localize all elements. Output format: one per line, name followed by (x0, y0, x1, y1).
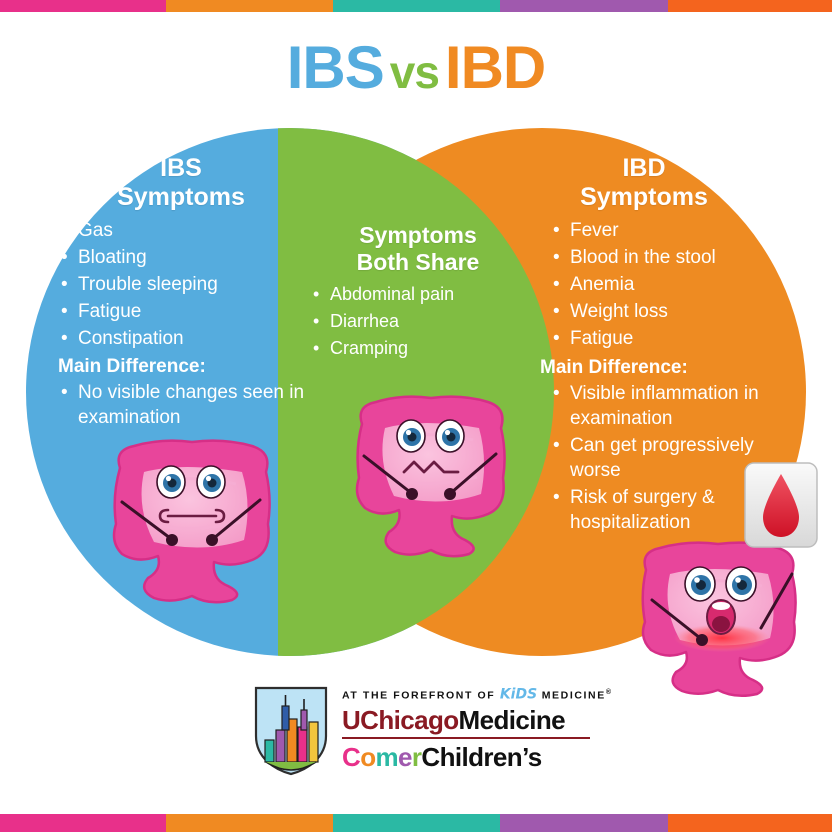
list-item: Fatigue (540, 326, 792, 351)
color-bar-segment-2 (166, 814, 333, 832)
list-item: Gas (58, 218, 308, 243)
list-item: Weight loss (540, 299, 792, 324)
shared-heading-line2: Both Share (310, 249, 526, 276)
logo-tagline: AT THE FOREFRONT OF KiDS MEDICINE® (342, 686, 594, 703)
ibd-main-difference-label: Main Difference: (540, 357, 792, 379)
logo-brand-medicine: Medicine (459, 705, 565, 735)
list-item: Diarrhea (310, 309, 526, 334)
comer-letter-o: o (360, 742, 375, 772)
logo-sub-brand: ComerChildren’s (342, 742, 594, 772)
ibd-heading: IBD Symptoms (544, 154, 744, 212)
list-item: Anemia (540, 272, 792, 297)
bottom-color-bar (0, 814, 832, 832)
ibs-heading-line2: Symptoms (76, 183, 286, 212)
color-bar-segment-3 (333, 814, 500, 832)
comer-letter-e: e (398, 742, 412, 772)
shield-logo-icon (252, 684, 330, 776)
tagline-post: MEDICINE (542, 690, 606, 702)
list-item: Trouble sleeping (58, 272, 308, 297)
logo-brand-uchicago: UChicago (342, 705, 459, 735)
infographic-page: IBSvsIBD IBS Symptoms Gas Bloating Troub… (0, 0, 832, 832)
ibd-heading-line2: Symptoms (544, 183, 744, 212)
ibs-main-difference-label: Main Difference: (58, 356, 308, 378)
list-item: Abdominal pain (310, 282, 526, 307)
blood-drop-card (744, 462, 818, 548)
comer-letter-c: C (342, 742, 360, 772)
color-bar-segment-1 (0, 814, 166, 832)
comer-childrens: Children’s (421, 742, 541, 772)
tagline-kids: KiDS (500, 687, 537, 703)
ibs-intestine-character (92, 428, 292, 608)
logo-brand: UChicagoMedicine (342, 705, 594, 735)
shared-symptom-list: Abdominal pain Diarrhea Cramping (310, 282, 526, 361)
list-item: Bloating (58, 245, 308, 270)
registered-mark: ® (606, 689, 613, 696)
uchicago-medicine-logo: AT THE FOREFRONT OF KiDS MEDICINE® UChic… (252, 682, 592, 782)
list-item: No visible changes seen in examination (58, 380, 308, 430)
shared-intestine-character (336, 386, 526, 561)
comer-letter-m: m (375, 742, 398, 772)
shared-heading: Symptoms Both Share (310, 222, 526, 276)
list-item: Blood in the stool (540, 245, 792, 270)
color-bar-segment-4 (500, 814, 668, 832)
ibs-column: IBS Symptoms Gas Bloating Trouble sleepi… (58, 154, 308, 432)
logo-text-block: AT THE FOREFRONT OF KiDS MEDICINE® UChic… (342, 682, 594, 772)
list-item: Cramping (310, 336, 526, 361)
ibd-symptom-list: Fever Blood in the stool Anemia Weight l… (540, 218, 792, 351)
ibs-heading: IBS Symptoms (76, 154, 286, 212)
list-item: Visible inflammation in examination (540, 381, 792, 431)
ibs-difference-list: No visible changes seen in examination (58, 380, 308, 430)
logo-divider (342, 737, 590, 739)
tagline-pre: AT THE FOREFRONT OF (342, 690, 495, 702)
list-item: Constipation (58, 326, 308, 351)
list-item: Fever (540, 218, 792, 243)
ibd-intestine-character (622, 534, 822, 699)
ibs-heading-line1: IBS (76, 154, 286, 183)
ibd-heading-line1: IBD (544, 154, 744, 183)
list-item: Fatigue (58, 299, 308, 324)
color-bar-segment-5 (668, 814, 832, 832)
shared-column: Symptoms Both Share Abdominal pain Diarr… (310, 222, 526, 363)
ibs-symptom-list: Gas Bloating Trouble sleeping Fatigue Co… (58, 218, 308, 351)
comer-letter-r: r (412, 742, 422, 772)
shared-heading-line1: Symptoms (310, 222, 526, 249)
